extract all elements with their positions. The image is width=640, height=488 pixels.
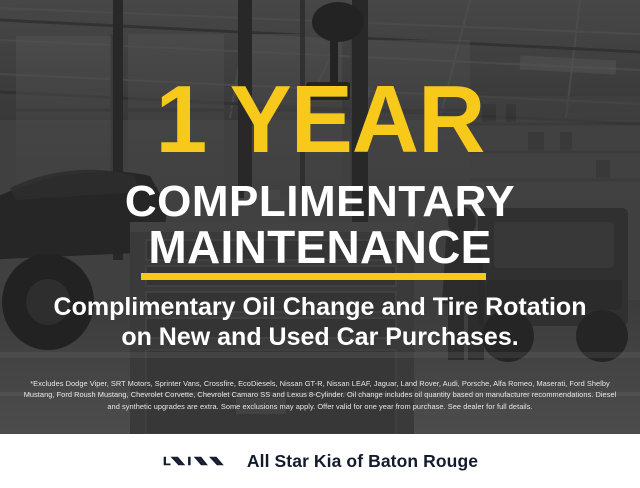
dealer-name: All Star Kia of Baton Rouge xyxy=(247,451,478,472)
yellow-divider-bar xyxy=(141,273,486,280)
footer-bar: All Star Kia of Baton Rouge xyxy=(0,434,640,488)
subheadline-line-2: on New and Used Car Purchases. xyxy=(0,322,640,352)
footer-brand-lockup: All Star Kia of Baton Rouge xyxy=(162,451,478,472)
headline-maintenance: MAINTENANCE xyxy=(0,225,640,269)
promo-banner: 1 YEAR COMPLIMENTARY MAINTENANCE Complim… xyxy=(0,0,640,488)
subheadline-line-1: Complimentary Oil Change and Tire Rotati… xyxy=(0,292,640,322)
headline-complimentary: COMPLIMENTARY xyxy=(0,180,640,224)
kia-logo-icon xyxy=(162,451,230,471)
banner-content: 1 YEAR COMPLIMENTARY MAINTENANCE Complim… xyxy=(0,0,640,434)
headline-year: 1 YEAR xyxy=(10,72,631,168)
disclaimer-text: *Excludes Dodge Viper, SRT Motors, Sprin… xyxy=(18,378,622,412)
